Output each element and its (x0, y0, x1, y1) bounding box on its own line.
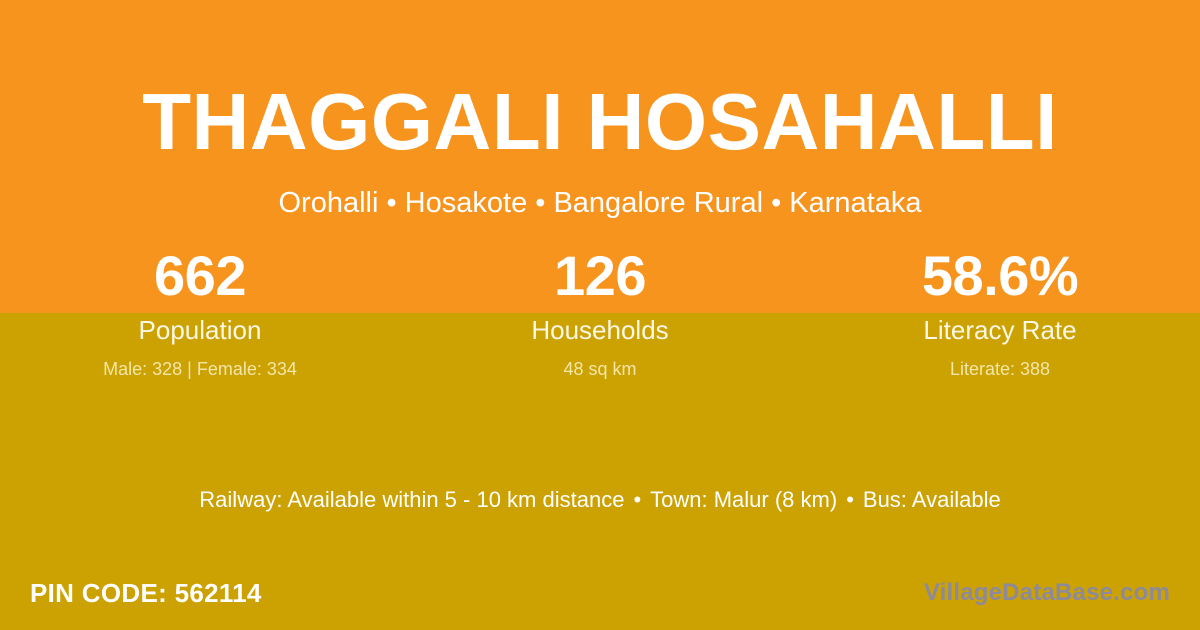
stat-label: Population (0, 306, 400, 345)
stat-subtext: Literate: 388 (800, 345, 1200, 380)
stat-subtext: Male: 328 | Female: 334 (0, 345, 400, 380)
stat-value: 58.6% (800, 246, 1200, 306)
facilities-line: Railway: Available within 5 - 10 km dist… (0, 485, 1200, 515)
facility-separator: • (624, 487, 650, 512)
stat-label: Literacy Rate (800, 306, 1200, 345)
stats-row: 662 Population Male: 328 | Female: 334 1… (0, 246, 1200, 380)
pin-code-label: PIN CODE: 562114 (30, 578, 262, 608)
stat-value: 126 (400, 246, 800, 306)
site-brand: VillageDataBase.com (924, 579, 1170, 607)
stat-subtext: 48 sq km (400, 345, 800, 380)
stat-label: Households (400, 306, 800, 345)
village-info-card: THAGGALI HOSAHALLI Orohalli • Hosakote •… (0, 0, 1200, 630)
stat-literacy-rate: 58.6% Literacy Rate Literate: 388 (800, 246, 1200, 380)
breadcrumb: Orohalli • Hosakote • Bangalore Rural • … (0, 162, 1200, 220)
card-header: THAGGALI HOSAHALLI Orohalli • Hosakote •… (0, 0, 1200, 220)
facility-separator: • (837, 487, 863, 512)
stat-population: 662 Population Male: 328 | Female: 334 (0, 246, 400, 380)
card-footer: PIN CODE: 562114 VillageDataBase.com (0, 556, 1200, 630)
stat-households: 126 Households 48 sq km (400, 246, 800, 380)
page-title: THAGGALI HOSAHALLI (0, 0, 1200, 162)
facility-railway: Railway: Available within 5 - 10 km dist… (199, 487, 624, 512)
facility-bus: Bus: Available (863, 487, 1001, 512)
stat-value: 662 (0, 246, 400, 306)
facility-town: Town: Malur (8 km) (650, 487, 837, 512)
